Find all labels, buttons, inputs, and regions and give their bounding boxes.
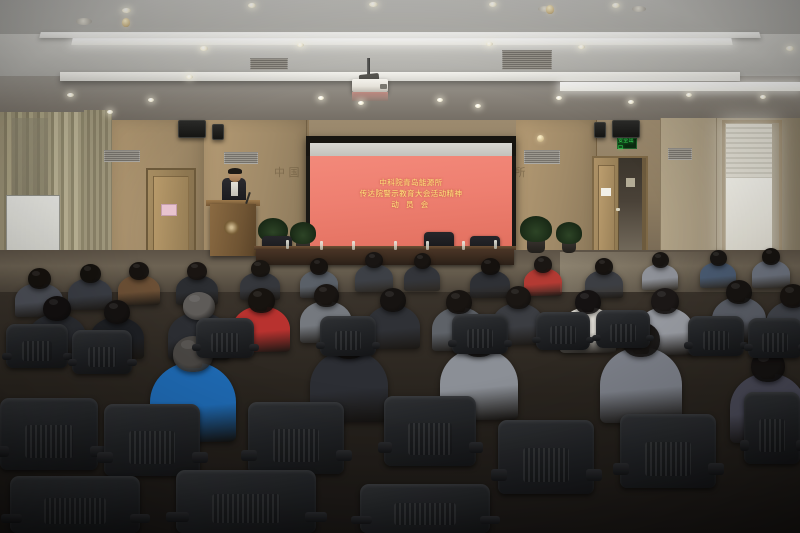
chair-back-shell bbox=[744, 392, 800, 464]
chair-armrest-right[interactable] bbox=[192, 452, 207, 464]
auditorium-chair[interactable] bbox=[248, 402, 344, 474]
chair-back-shell bbox=[248, 402, 344, 474]
auditorium-chair[interactable] bbox=[688, 316, 744, 356]
chair-back-ribs bbox=[762, 333, 788, 351]
chair-armrest-left[interactable] bbox=[613, 463, 628, 475]
chair-armrest-right[interactable] bbox=[305, 512, 327, 522]
downlight-icon bbox=[297, 43, 304, 47]
chair-back-shell bbox=[360, 484, 490, 533]
chair-back-ribs bbox=[523, 448, 569, 482]
pendant-light-icon bbox=[537, 135, 544, 142]
chair-armrest-right[interactable] bbox=[708, 463, 723, 475]
audience-person-hair-highlight bbox=[451, 293, 460, 299]
chair-back-shell bbox=[620, 414, 716, 488]
corridor-light bbox=[626, 178, 635, 187]
chair-back-ribs bbox=[645, 442, 691, 476]
audience-person-hair-highlight bbox=[253, 291, 262, 297]
ceiling-disc-icon bbox=[76, 18, 92, 25]
chair-armrest-right[interactable] bbox=[646, 335, 655, 341]
ceiling-soffit-rim bbox=[60, 72, 740, 81]
downlight-icon bbox=[437, 98, 443, 102]
door-handle-icon[interactable] bbox=[616, 208, 620, 211]
downlight-icon bbox=[248, 3, 256, 8]
ceiling-vent-icon bbox=[502, 50, 552, 70]
auditorium-chair[interactable] bbox=[498, 420, 594, 494]
chair-back-ribs bbox=[610, 324, 636, 341]
speaker-hair bbox=[228, 168, 242, 174]
slide-line-2: 传达院警示教育大会活动精神 bbox=[310, 189, 512, 200]
chair-armrest-left[interactable] bbox=[684, 342, 693, 348]
chair-back-shell bbox=[452, 314, 508, 354]
chair-armrest-left[interactable] bbox=[378, 442, 393, 453]
chair-back-ribs bbox=[212, 494, 279, 523]
auditorium-chair[interactable] bbox=[452, 314, 508, 354]
audience-person-hair-highlight bbox=[49, 299, 59, 305]
auditorium-chair[interactable] bbox=[196, 318, 254, 358]
slide-text-block: 中科院青岛能源所 传达院警示教育大会活动精神 动 员 会 bbox=[310, 178, 512, 211]
chair-armrest-left[interactable] bbox=[491, 469, 506, 481]
downlight-icon bbox=[628, 100, 634, 104]
podium-emblem-icon bbox=[224, 220, 239, 235]
chair-armrest-right[interactable] bbox=[249, 344, 258, 350]
cove-light-strip-upper bbox=[71, 38, 732, 45]
audience-person-hair-highlight bbox=[580, 293, 589, 299]
projector-lens-icon bbox=[380, 84, 387, 89]
downlight-icon bbox=[358, 101, 364, 105]
wall-calligraphy-left: 中 国 bbox=[274, 164, 300, 180]
ceiling-vent-icon bbox=[224, 152, 258, 164]
chair-back-shell bbox=[176, 470, 316, 533]
chair-back-shell bbox=[688, 316, 744, 356]
speaker-shirt bbox=[231, 182, 238, 196]
door-right-paper-sign bbox=[601, 188, 611, 196]
slide-line-3: 动 员 会 bbox=[310, 200, 512, 211]
chair-back-shell bbox=[10, 476, 140, 533]
auditorium-chair[interactable] bbox=[104, 404, 200, 476]
water-bottle bbox=[462, 241, 465, 250]
chair-back-ribs bbox=[335, 331, 362, 349]
audience-person-hair-highlight bbox=[385, 291, 394, 297]
chair-armrest-left[interactable] bbox=[351, 516, 372, 524]
chair-back-shell bbox=[748, 318, 800, 358]
wall-seam-4 bbox=[716, 118, 717, 268]
slide-line-1: 中科院青岛能源所 bbox=[310, 178, 512, 189]
ceiling-vent-icon bbox=[668, 148, 692, 160]
projector-light-glow bbox=[352, 92, 388, 101]
chair-back-ribs bbox=[129, 431, 175, 464]
auditorium-chair[interactable] bbox=[384, 396, 476, 466]
downlight-icon bbox=[489, 2, 497, 7]
auditorium-chair[interactable] bbox=[748, 318, 800, 358]
cove-light-strip-right bbox=[560, 82, 800, 91]
audience-person-hair-highlight bbox=[731, 283, 740, 289]
auditorium-chair[interactable] bbox=[596, 310, 650, 348]
audience-person-hair-highlight bbox=[109, 303, 118, 309]
chair-back-ribs bbox=[467, 329, 494, 347]
downlight-icon bbox=[122, 8, 131, 13]
auditorium-chair[interactable] bbox=[320, 316, 376, 356]
chair-back-ribs bbox=[44, 498, 106, 524]
chair-armrest-left[interactable] bbox=[192, 344, 201, 350]
chair-back-ribs bbox=[550, 326, 576, 343]
chair-back-shell bbox=[104, 404, 200, 476]
chair-back-shell bbox=[0, 398, 98, 470]
chair-back-ribs bbox=[408, 423, 452, 455]
chair-back-shell bbox=[196, 318, 254, 358]
ceiling-disc-icon bbox=[632, 6, 646, 12]
chair-back-ribs bbox=[759, 419, 786, 452]
water-bottle bbox=[286, 240, 289, 249]
chair-armrest-right[interactable] bbox=[127, 359, 137, 366]
exit-sign: 安全出口 bbox=[617, 138, 637, 149]
downlight-icon bbox=[148, 98, 154, 102]
downlight-icon bbox=[107, 110, 113, 114]
chair-armrest-left[interactable] bbox=[97, 452, 112, 464]
chair-armrest-left[interactable] bbox=[592, 335, 601, 341]
audience-person-hair-highlight bbox=[254, 262, 260, 266]
chair-armrest-left[interactable] bbox=[532, 337, 541, 343]
downlight-icon bbox=[186, 75, 193, 79]
chair-armrest-left[interactable] bbox=[1, 514, 22, 523]
floor-reflection bbox=[560, 252, 710, 296]
chair-armrest-right[interactable] bbox=[480, 516, 501, 524]
projection-screen-top-band bbox=[310, 143, 512, 156]
chair-back-ribs bbox=[394, 503, 456, 526]
downlight-icon bbox=[786, 46, 794, 51]
chair-armrest-left[interactable] bbox=[166, 512, 188, 522]
audience-person-hair-highlight bbox=[417, 255, 423, 259]
chair-back-ribs bbox=[703, 331, 730, 349]
ceiling-vent-icon bbox=[250, 58, 288, 70]
wall-seam-3 bbox=[660, 118, 661, 268]
downlight-icon bbox=[486, 42, 493, 46]
audience-person-hair-highlight bbox=[766, 250, 772, 254]
audience-person-torso bbox=[600, 347, 682, 423]
chair-armrest-right[interactable] bbox=[796, 440, 800, 452]
auditorium-chair[interactable] bbox=[360, 484, 490, 533]
door-right-panel bbox=[598, 165, 615, 261]
plant-foliage bbox=[290, 222, 316, 244]
chair-armrest-left[interactable] bbox=[740, 440, 749, 452]
audience-person-hair-highlight bbox=[655, 254, 661, 258]
downlight-icon bbox=[475, 104, 481, 108]
window-blind-right[interactable] bbox=[726, 124, 772, 178]
chair-armrest-right[interactable] bbox=[504, 340, 513, 346]
chair-back-ribs bbox=[273, 429, 319, 462]
downlight-icon bbox=[578, 45, 585, 49]
water-bottle bbox=[320, 241, 323, 250]
chair-back-ribs bbox=[88, 347, 117, 367]
auditorium-chair[interactable] bbox=[176, 470, 316, 533]
chair-back-shell bbox=[384, 396, 476, 466]
chair-armrest-left[interactable] bbox=[68, 359, 78, 366]
auditorium-chair[interactable] bbox=[536, 312, 590, 350]
auditorium-chair[interactable] bbox=[744, 392, 800, 464]
audience-person-hair-highlight bbox=[538, 258, 544, 262]
plant-foliage bbox=[556, 222, 582, 244]
chair-armrest-left[interactable] bbox=[316, 342, 325, 348]
chair-back-ribs bbox=[25, 425, 72, 458]
chair-back-shell bbox=[320, 316, 376, 356]
door-left-notice-sign bbox=[161, 204, 177, 216]
audience-person-hair-highlight bbox=[599, 260, 605, 264]
chair-back-shell bbox=[536, 312, 590, 350]
downlight-icon bbox=[67, 93, 74, 97]
conference-hall-photo: 安全出口 中 国 之 所 中科院青岛能源所 传达院警示教育大会活动精神 动 员 … bbox=[0, 0, 800, 533]
downlight-icon bbox=[612, 3, 620, 8]
auditorium-chair[interactable] bbox=[0, 398, 98, 470]
audience-person-hair-highlight bbox=[713, 252, 719, 256]
ceiling-soffit-edge bbox=[39, 32, 761, 38]
audience-person-hair-highlight bbox=[84, 266, 91, 271]
wall-speaker-icon bbox=[594, 122, 606, 138]
ceiling-vent-icon bbox=[104, 150, 140, 162]
wall-speaker-icon bbox=[212, 124, 224, 140]
downlight-icon bbox=[686, 93, 692, 97]
ceiling bbox=[0, 0, 800, 132]
chair-back-ribs bbox=[211, 333, 239, 351]
exit-sign-label: 安全出口 bbox=[618, 137, 636, 151]
downlight-icon bbox=[760, 95, 766, 99]
chair-armrest-right[interactable] bbox=[469, 442, 484, 453]
wall-speaker-icon bbox=[178, 120, 206, 138]
water-bottle bbox=[352, 241, 355, 250]
auditorium-chair[interactable] bbox=[10, 476, 140, 533]
auditorium-chair[interactable] bbox=[72, 330, 132, 374]
projected-slide: 中科院青岛能源所 传达院警示教育大会活动精神 动 员 会 bbox=[310, 156, 512, 248]
water-bottle bbox=[426, 241, 429, 250]
audience-person-hair-highlight bbox=[369, 254, 375, 258]
audience-person-hair-highlight bbox=[314, 260, 320, 264]
audience-person-hair-highlight bbox=[785, 287, 794, 293]
curtain-left-edge bbox=[84, 110, 112, 264]
chair-armrest-left[interactable] bbox=[241, 450, 256, 462]
head-table bbox=[256, 249, 514, 265]
water-bottle bbox=[494, 240, 497, 249]
downlight-icon bbox=[556, 96, 562, 100]
downlight-icon bbox=[318, 96, 324, 100]
pendant-light-icon bbox=[546, 5, 554, 14]
plant-foliage bbox=[520, 216, 552, 242]
chair-back-shell bbox=[6, 324, 68, 368]
chair-armrest-right[interactable] bbox=[336, 450, 351, 462]
auditorium-chair[interactable] bbox=[6, 324, 68, 368]
pendant-light-icon bbox=[122, 18, 130, 27]
chair-armrest-right[interactable] bbox=[586, 469, 601, 481]
chair-back-shell bbox=[596, 310, 650, 348]
downlight-icon bbox=[200, 46, 208, 51]
ceiling-vent-icon bbox=[524, 150, 560, 164]
wall-speaker-icon bbox=[612, 120, 640, 138]
auditorium-chair[interactable] bbox=[620, 414, 716, 488]
chair-armrest-right[interactable] bbox=[130, 514, 151, 523]
chair-armrest-left[interactable] bbox=[448, 340, 457, 346]
chair-back-shell bbox=[72, 330, 132, 374]
chair-armrest-right[interactable] bbox=[372, 342, 381, 348]
audience-person-hair-highlight bbox=[32, 271, 40, 276]
water-bottle bbox=[394, 241, 397, 250]
chair-armrest-left[interactable] bbox=[0, 446, 9, 458]
chair-armrest-left[interactable] bbox=[2, 353, 12, 360]
chair-back-shell bbox=[498, 420, 594, 494]
ceiling-upper-plane bbox=[0, 0, 800, 34]
chair-armrest-left[interactable] bbox=[744, 344, 753, 350]
downlight-icon bbox=[369, 2, 378, 7]
chair-back-ribs bbox=[22, 341, 52, 361]
audience-person-hair-highlight bbox=[484, 260, 490, 264]
